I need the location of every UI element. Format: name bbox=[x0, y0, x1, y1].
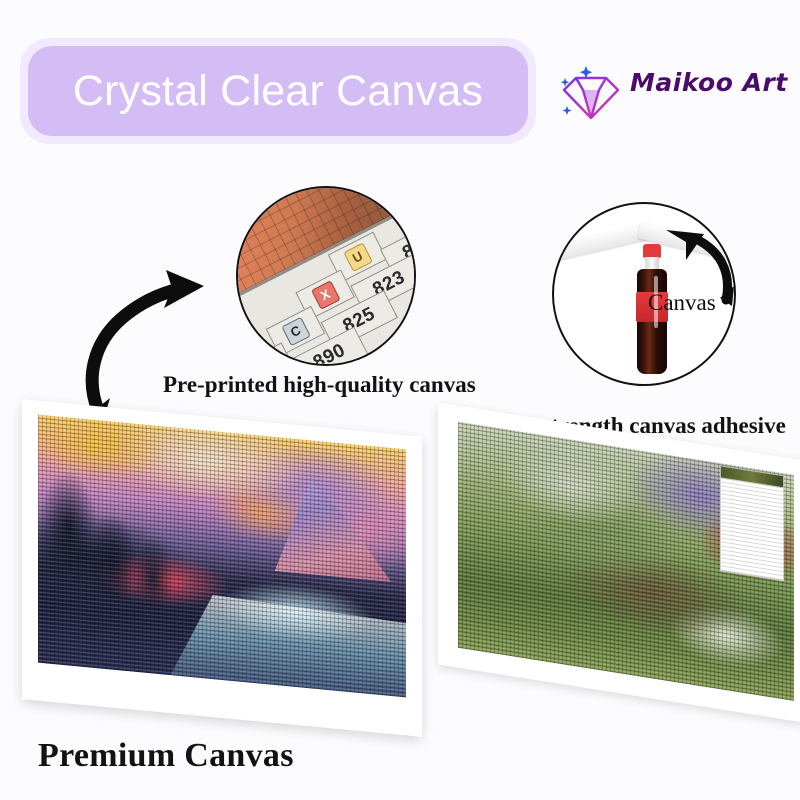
artwork-sunset-mountains bbox=[38, 415, 406, 698]
symbol-glyph: U bbox=[343, 243, 373, 273]
color-legend-strip bbox=[720, 477, 784, 581]
caption-pre-printed-canvas: Pre-printed high-quality canvas bbox=[163, 372, 476, 398]
canvas-zoom-circle: U X C ✦ S S 817 823 bbox=[236, 186, 416, 366]
product-feature-poster: Crystal Clear Canvas bbox=[0, 0, 800, 800]
symbol-glyph: C bbox=[281, 317, 311, 347]
brand-name: Maikoo Art bbox=[630, 68, 780, 97]
pine-silhouette-group bbox=[38, 434, 207, 678]
title-banner: Crystal Clear Canvas bbox=[28, 46, 528, 136]
symbol-glyph: X bbox=[311, 281, 341, 311]
footer-caption: Premium Canvas bbox=[38, 737, 294, 775]
canvas-board-mountains bbox=[22, 399, 422, 737]
canvas-pointer-label: Canvas bbox=[648, 290, 716, 316]
symbol-glyph: ✦ bbox=[251, 353, 281, 366]
page-title: Crystal Clear Canvas bbox=[73, 67, 483, 116]
mountain-peak bbox=[229, 467, 391, 581]
brand-logo: Maikoo Art bbox=[556, 56, 782, 128]
diamond-icon bbox=[556, 62, 626, 124]
canvas-board-garden bbox=[438, 403, 800, 724]
artwork-garden-cottage bbox=[458, 422, 794, 701]
